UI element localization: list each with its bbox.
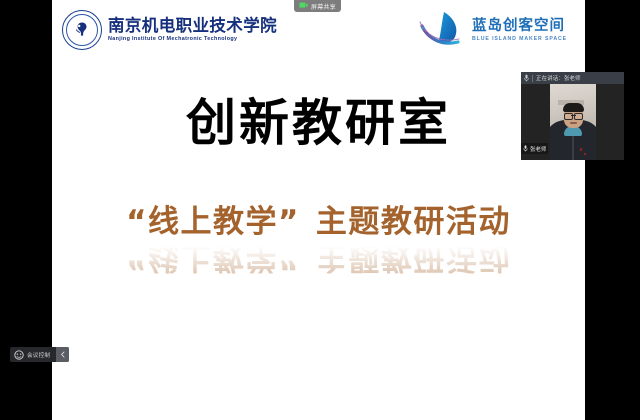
camera-feed — [550, 84, 596, 160]
subtitle-rest: 主题教研活动 — [316, 204, 511, 240]
screen-share-icon — [299, 2, 308, 10]
meeting-toolbar-label: 会议控制 — [27, 351, 56, 359]
university-crest-icon — [62, 10, 102, 50]
video-panel-divider — [532, 75, 533, 82]
active-speaker-label: 正在讲话：张老师 — [536, 74, 581, 82]
university-name-cn: 南京机电职业技术学院 — [108, 18, 277, 35]
screen-share-indicator[interactable]: 屏幕共享 — [294, 0, 341, 12]
feed-person-zipper — [572, 136, 574, 160]
microphone-icon — [523, 145, 528, 152]
makerspace-logo-text: 蓝岛创客空间 BLUE ISLAND MAKER SPACE — [472, 19, 567, 42]
participant-name: 张老师 — [530, 145, 546, 153]
university-name-en: Nanjing Institute Of Mechatronic Technol… — [108, 37, 277, 42]
university-logo-text: 南京机电职业技术学院 Nanjing Institute Of Mechatro… — [108, 18, 277, 43]
participant-video-panel[interactable]: 正在讲话：张老师 — [521, 72, 624, 160]
meeting-mini-toolbar[interactable]: 会议控制 — [10, 347, 69, 362]
slide-title: 创新教研室 — [52, 98, 585, 148]
meeting-controls-icon[interactable] — [14, 350, 24, 360]
feed-person-hair — [563, 103, 584, 112]
subtitle-quoted: “线上教学” — [126, 204, 300, 240]
feed-person-glasses — [564, 113, 583, 118]
crest-mark — [63, 11, 101, 49]
subtitle-reflection-quoted: “线上教学” — [126, 240, 300, 276]
video-panel-header: 正在讲话：张老师 — [521, 72, 624, 84]
university-logo: 南京机电职业技术学院 Nanjing Institute Of Mechatro… — [62, 10, 277, 50]
blue-sail-icon — [414, 8, 468, 54]
presentation-slide: 南京机电职业技术学院 Nanjing Institute Of Mechatro… — [52, 0, 585, 420]
screen-share-stage: 南京机电职业技术学院 Nanjing Institute Of Mechatro… — [0, 0, 640, 420]
slide-subtitle: “线上教学”主题教研活动 — [52, 206, 585, 239]
screen-share-label: 屏幕共享 — [311, 2, 336, 11]
glasses-bridge — [571, 115, 576, 116]
feed-person-detail-right — [584, 153, 586, 155]
subtitle-reflection-rest: 主题教研活动 — [316, 240, 511, 276]
microphone-icon — [524, 74, 529, 82]
video-panel-body: 张老师 — [521, 84, 624, 160]
slide-subtitle-block: “线上教学”主题教研活动 “线上教学”主题教研活动 — [52, 206, 585, 274]
makerspace-name-en: BLUE ISLAND MAKER SPACE — [472, 37, 567, 42]
chevron-left-icon[interactable] — [56, 347, 69, 362]
makerspace-name-cn: 蓝岛创客空间 — [472, 19, 567, 34]
feed-person-mouth — [570, 122, 577, 124]
makerspace-logo: 蓝岛创客空间 BLUE ISLAND MAKER SPACE — [414, 8, 567, 54]
participant-nametag: 张老师 — [521, 143, 548, 154]
slide-subtitle-reflection: “线上教学”主题教研活动 — [52, 240, 585, 273]
